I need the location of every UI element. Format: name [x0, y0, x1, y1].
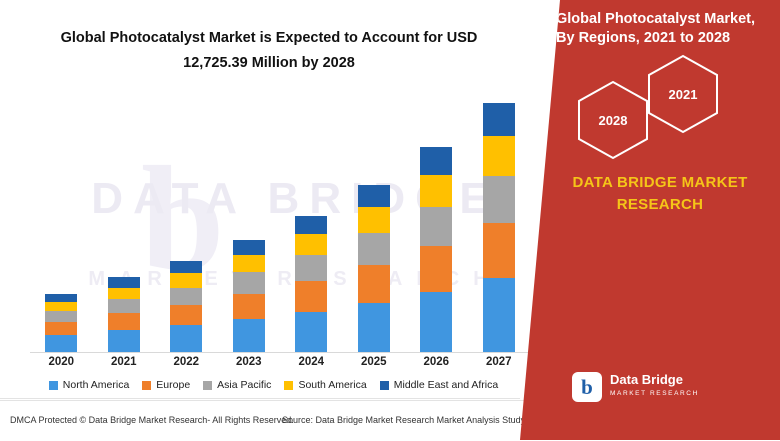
bar-segment — [170, 305, 202, 325]
panel-logo: b Data Bridge MARKET RESEARCH — [572, 372, 699, 402]
bar-segment — [420, 246, 452, 291]
bar-segment — [420, 207, 452, 246]
bar-segment — [358, 233, 390, 265]
footer-divider — [0, 398, 520, 399]
bar-segment — [108, 330, 140, 352]
bar-segment — [45, 294, 77, 302]
legend-label: Asia Pacific — [217, 379, 271, 391]
stacked-bar — [233, 240, 265, 352]
bar-segment — [170, 273, 202, 287]
stacked-bar — [295, 216, 327, 352]
legend-swatch-icon — [49, 381, 58, 390]
bar-segment — [483, 103, 515, 136]
legend-swatch-icon — [142, 381, 151, 390]
footer-copyright: DMCA Protected © Data Bridge Market Rese… — [10, 415, 294, 425]
x-tick-label: 2024 — [280, 356, 343, 368]
bar-segment — [45, 311, 77, 322]
chart-legend: North AmericaEuropeAsia PacificSouth Ame… — [16, 376, 531, 394]
hexagon-2028-label: 2028 — [599, 113, 628, 128]
bar-group — [280, 90, 343, 352]
screenshot-root: b DATA BRIDGE MARKET RESEARCH Global Pho… — [0, 0, 780, 440]
bar-group — [155, 90, 218, 352]
x-axis-tick-labels: 20202021202220232024202520262027 — [30, 356, 530, 368]
bar-segment — [233, 272, 265, 293]
legend-label: Europe — [156, 379, 190, 391]
bar-segment — [483, 223, 515, 278]
legend-swatch-icon — [203, 381, 212, 390]
logo-text-sub: MARKET RESEARCH — [610, 387, 699, 401]
hexagon-2021: 2021 — [647, 54, 719, 134]
legend-label: North America — [63, 379, 130, 391]
bar-segment — [358, 303, 390, 352]
bar-segment — [170, 288, 202, 305]
x-tick-label: 2023 — [218, 356, 281, 368]
hexagon-2021-label: 2021 — [669, 87, 698, 102]
bar-segment — [295, 216, 327, 234]
legend-item: North America — [49, 379, 130, 391]
legend-label: Middle East and Africa — [394, 379, 498, 391]
stacked-bar — [420, 147, 452, 352]
bar-segment — [295, 312, 327, 352]
stacked-bar — [170, 261, 202, 352]
bar-series-container — [30, 90, 530, 352]
bar-group — [218, 90, 281, 352]
bar-group — [405, 90, 468, 352]
panel-brand-line2: RESEARCH — [550, 194, 770, 216]
bar-group — [93, 90, 156, 352]
legend-swatch-icon — [380, 381, 389, 390]
bar-segment — [233, 255, 265, 272]
footer-source: Source: Data Bridge Market Research Mark… — [282, 415, 548, 425]
x-tick-label: 2021 — [93, 356, 156, 368]
legend-swatch-icon — [284, 381, 293, 390]
stacked-bar — [358, 185, 390, 352]
x-tick-label: 2022 — [155, 356, 218, 368]
hexagon-group: 2028 2021 — [575, 62, 765, 152]
bar-segment — [108, 299, 140, 313]
bar-segment — [108, 288, 140, 299]
x-tick-label: 2020 — [30, 356, 93, 368]
bar-segment — [108, 313, 140, 330]
stacked-bar — [483, 103, 515, 352]
legend-label: South America — [298, 379, 366, 391]
legend-item: Asia Pacific — [203, 379, 271, 391]
bar-group — [343, 90, 406, 352]
bar-segment — [483, 176, 515, 223]
bar-segment — [295, 281, 327, 311]
legend-item: Middle East and Africa — [380, 379, 498, 391]
stacked-bar — [108, 277, 140, 352]
stacked-bar — [45, 294, 77, 352]
hexagon-2028: 2028 — [577, 80, 649, 160]
bar-segment — [45, 302, 77, 311]
chart-title: Global Photocatalyst Market is Expected … — [34, 26, 504, 76]
panel-brand: DATA BRIDGE MARKET RESEARCH — [550, 172, 770, 216]
right-red-panel: Global Photocatalyst Market, By Regions,… — [520, 0, 780, 440]
bar-segment — [295, 255, 327, 281]
x-tick-label: 2027 — [468, 356, 531, 368]
bar-segment — [45, 335, 77, 352]
bar-segment — [45, 322, 77, 335]
bar-segment — [358, 265, 390, 302]
panel-title: Global Photocatalyst Market, By Regions,… — [556, 10, 768, 48]
bar-segment — [233, 319, 265, 352]
logo-text-main: Data Bridge — [610, 372, 683, 387]
bar-segment — [483, 136, 515, 175]
bar-group — [468, 90, 531, 352]
legend-item: South America — [284, 379, 366, 391]
logo-mark-icon: b — [572, 372, 602, 402]
bar-segment — [233, 294, 265, 319]
bar-segment — [170, 325, 202, 352]
bar-segment — [420, 147, 452, 174]
bar-segment — [358, 185, 390, 207]
bar-segment — [233, 240, 265, 255]
bar-segment — [420, 175, 452, 207]
chart-plot-area — [30, 90, 530, 352]
bar-group — [30, 90, 93, 352]
panel-brand-line1: DATA BRIDGE MARKET — [550, 172, 770, 194]
x-tick-label: 2026 — [405, 356, 468, 368]
x-axis-line — [30, 352, 530, 353]
bar-segment — [358, 207, 390, 233]
bar-segment — [420, 292, 452, 352]
bar-segment — [108, 277, 140, 287]
bar-segment — [170, 261, 202, 273]
legend-item: Europe — [142, 379, 190, 391]
logo-text: Data Bridge MARKET RESEARCH — [610, 373, 699, 401]
x-tick-label: 2025 — [343, 356, 406, 368]
bar-segment — [295, 234, 327, 255]
bar-segment — [483, 278, 515, 352]
